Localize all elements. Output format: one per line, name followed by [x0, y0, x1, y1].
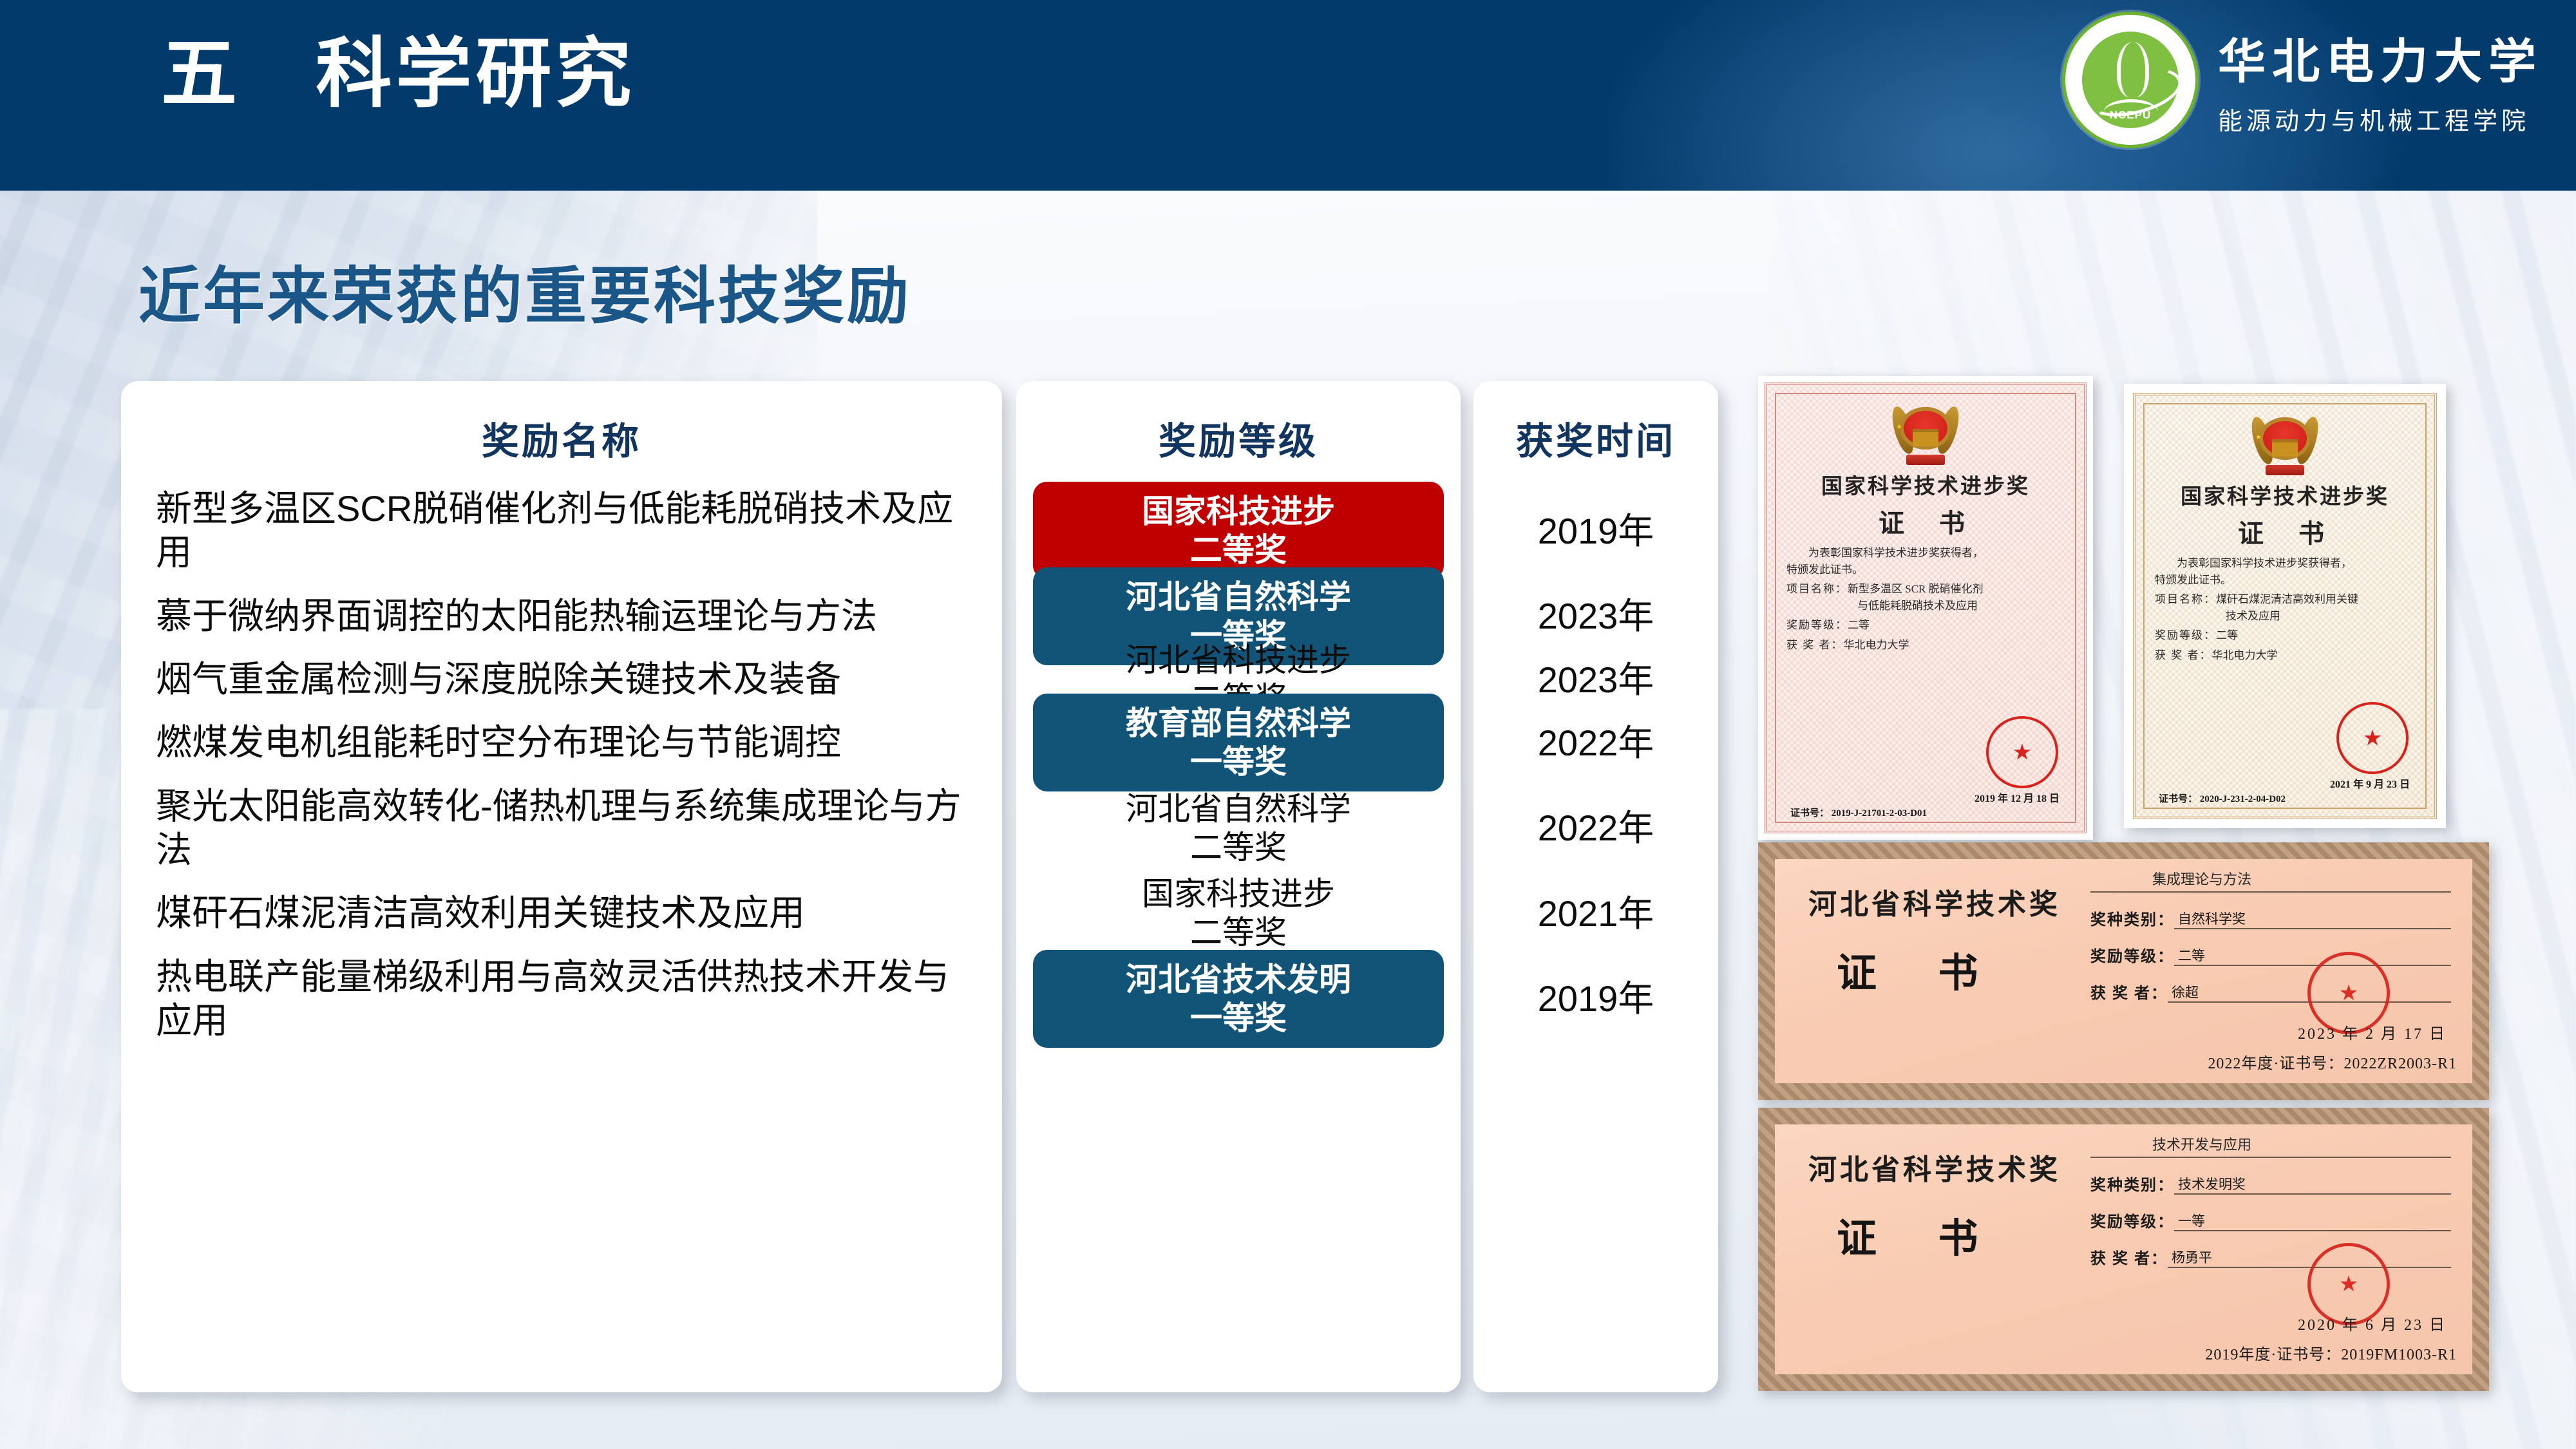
certificate-citation-line1: 为表彰国家科学技术进步奖获得者， [1786, 545, 2065, 562]
certificate-doc-word: 证 书 [1837, 940, 2004, 998]
certificate-category-label: 奖种类别： [2090, 1172, 2174, 1195]
certificate-winner-label: 获 奖 者： [1786, 639, 1844, 651]
certificate-level-label: 奖励等级： [2090, 1209, 2174, 1231]
certificate-citation-line2: 特颁发此证书。 [2155, 572, 2415, 589]
certificate-top-field: 集成理论与方法 [2090, 866, 2451, 893]
award-name-cell: 新型多温区SCR脱硝催化剂与低能耗脱硝技术及应用 [156, 487, 967, 575]
certificate-body: 为表彰国家科学技术进步奖获得者， 特颁发此证书。 项目名称：新型多温区 SCR … [1786, 545, 2065, 653]
certificate-paper: 河北省科学技术奖 证 书 技术开发与应用 奖种类别：技术发明奖 奖励等级：一等 … [1758, 1108, 2489, 1391]
certificate-body: 为表彰国家科学技术进步奖获得者， 特颁发此证书。 项目名称：煤矸石煤泥清洁高效利… [2155, 555, 2415, 663]
certificate-frame: 国家科学技术进步奖 证 书 为表彰国家科学技术进步奖获得者， 特颁发此证书。 项… [1775, 393, 2076, 823]
award-year-list: 2019年2023年2023年2022年2022年2021年2019年 [1473, 465, 1718, 1386]
certificate-winner-value: 华北电力大学 [2212, 649, 2278, 661]
certificate-national-2[interactable]: 国家科学技术进步奖 证 书 为表彰国家科学技术进步奖获得者， 特颁发此证书。 项… [2124, 384, 2446, 828]
certificate-date: 2019 年 12 月 18 日 [1975, 790, 2060, 805]
certificate-level-value: 二等 [1848, 619, 1870, 631]
section-subtitle: 近年来荣获的重要科技奖励 [138, 246, 911, 336]
certificate-project-line1: 新型多温区 SCR 脱硝催化剂 [1848, 583, 1984, 595]
certificate-frame: 国家科学技术进步奖 证 书 为表彰国家科学技术进步奖获得者， 特颁发此证书。 项… [2143, 403, 2427, 809]
logo-acronym: NCEPU [2082, 109, 2179, 122]
certificate-number: 2022年度·证书号：2022ZR2003-R1 [2208, 1050, 2457, 1073]
award-year-panel: 获奖时间 2019年2023年2023年2022年2022年2021年2019年 [1473, 381, 1718, 1392]
award-year-cell: 2023年 [1473, 594, 1718, 638]
certificate-project-label: 项目名称： [2155, 593, 2216, 605]
award-year-cell: 2023年 [1473, 658, 1718, 701]
certificate-project-line2: 技术及应用 [2155, 608, 2415, 625]
award-year-cell: 2019年 [1473, 977, 1718, 1020]
column-header-award-year: 获奖时间 [1473, 381, 1718, 465]
award-year-cell: 2022年 [1473, 806, 1718, 849]
award-year-cell: 2019年 [1473, 509, 1718, 553]
certificate-level-value: 一等 [2174, 1211, 2451, 1231]
certificate-national-1[interactable]: 国家科学技术进步奖 证 书 为表彰国家科学技术进步奖获得者， 特颁发此证书。 项… [1758, 376, 2093, 840]
certificate-project-label: 项目名称： [1786, 583, 1848, 595]
certificate-level-value: 二等 [2216, 629, 2238, 641]
award-year-cell: 2021年 [1473, 892, 1718, 935]
certificate-project-line1: 煤矸石煤泥清洁高效利用关键 [2216, 593, 2358, 605]
award-level-badge: 教育部自然科学 一等奖 [1033, 694, 1444, 791]
logo-green-disc: NCEPU [2082, 32, 2179, 128]
certificate-top-field: 技术开发与应用 [2090, 1131, 2451, 1158]
certificate-doc-word: 证 书 [2238, 513, 2338, 550]
award-level-cell: 国家科技进步 二等奖 [1033, 866, 1444, 961]
award-level-panel: 奖励等级 国家科技进步 二等奖河北省自然科学 一等奖河北省科技进步 二等奖教育部… [1016, 381, 1461, 1392]
certificate-level-label: 奖励等级： [2090, 943, 2174, 966]
certificate-winner-label: 获 奖 者： [2090, 980, 2168, 1003]
certificate-doc-word: 证 书 [1837, 1206, 2004, 1264]
university-name: 华北电力大学 [2218, 23, 2543, 92]
award-level-badge: 国家科技进步 二等奖 [1033, 482, 1444, 580]
certificate-award-title: 国家科学技术进步奖 [2181, 479, 2389, 510]
award-name-cell: 燃煤发电机组能耗时空分布理论与节能调控 [156, 721, 967, 764]
award-name-cell: 烟气重金属检测与深度脱除关键技术及装备 [156, 658, 967, 701]
certificate-doc-word: 证 书 [1879, 502, 1979, 540]
certificate-paper: 河北省科学技术奖 证 书 集成理论与方法 奖种类别：自然科学奖 奖励等级：二等 … [1758, 842, 2489, 1100]
certificate-number: 证书号： 2019-J-21701-2-03-D01 [1790, 806, 1927, 819]
award-name-list: 新型多温区SCR脱硝催化剂与低能耗脱硝技术及应用慕于微纳界面调控的太阳能热输运理… [121, 465, 1002, 1043]
certificate-paper: 国家科学技术进步奖 证 书 为表彰国家科学技术进步奖获得者， 特颁发此证书。 项… [2133, 393, 2437, 819]
certificate-winner-value: 杨勇平 [2168, 1247, 2451, 1268]
slide-canvas: 五 科学研究 NCEPU 华北电力大学 能源动力与机械工程学院 近年来荣获的重要… [0, 0, 2576, 1449]
column-header-award-level: 奖励等级 [1016, 381, 1461, 465]
award-name-panel: 奖励名称 新型多温区SCR脱硝催化剂与低能耗脱硝技术及应用慕于微纳界面调控的太阳… [121, 381, 1002, 1392]
certificate-number: 2019年度·证书号：2019FM1003-R1 [2205, 1341, 2457, 1364]
national-emblem-icon [2254, 416, 2316, 475]
certificate-hebei-2[interactable]: 河北省科学技术奖 证 书 技术开发与应用 奖种类别：技术发明奖 奖励等级：一等 … [1758, 1108, 2489, 1391]
certificate-fields: 技术开发与应用 奖种类别：技术发明奖 奖励等级：一等 获 奖 者：杨勇平 [2090, 1131, 2451, 1268]
certificate-category-value: 技术发明奖 [2174, 1174, 2451, 1195]
certificate-category-label: 奖种类别： [2090, 907, 2174, 929]
certificate-winner-value: 华北电力大学 [1844, 639, 1909, 651]
national-emblem-icon [1895, 406, 1956, 465]
column-header-award-name: 奖励名称 [121, 381, 1002, 465]
certificate-citation-line1: 为表彰国家科学技术进步奖获得者， [2155, 555, 2415, 572]
certificate-paper: 国家科学技术进步奖 证 书 为表彰国家科学技术进步奖获得者， 特颁发此证书。 项… [1765, 383, 2087, 833]
ncepu-seal-icon: NCEPU [2062, 12, 2199, 148]
award-name-cell: 煤矸石煤泥清洁高效利用关键技术及应用 [156, 891, 967, 935]
certificate-level-label: 奖励等级： [2155, 629, 2216, 641]
certificate-project-line2: 与低能耗脱硝技术及应用 [1786, 598, 2065, 614]
award-name-cell: 热电联产能量梯级利用与高效灵活供热技术开发与应用 [156, 955, 967, 1043]
university-text-block: 华北电力大学 能源动力与机械工程学院 [2218, 23, 2543, 137]
page-title: 五 科学研究 [161, 31, 635, 118]
award-level-cell: 河北省自然科学 二等奖 [1033, 781, 1444, 876]
official-seal-icon: ★ [1986, 716, 2058, 788]
certificate-award-title: 河北省科学技术奖 [1808, 1146, 2061, 1188]
certificate-number: 证书号： 2020-J-231-2-04-D02 [2159, 791, 2286, 805]
award-level-badge: 河北省技术发明 一等奖 [1033, 950, 1444, 1048]
award-year-cell: 2022年 [1473, 721, 1718, 764]
certificate-citation-line2: 特颁发此证书。 [1786, 562, 2065, 578]
certificate-winner-label: 获 奖 者： [2155, 649, 2212, 661]
school-name: 能源动力与机械工程学院 [2218, 101, 2543, 137]
certificate-category-value: 自然科学奖 [2174, 909, 2451, 929]
award-level-list: 国家科技进步 二等奖河北省自然科学 一等奖河北省科技进步 二等奖教育部自然科学 … [1016, 465, 1461, 1386]
certificate-date: 2020 年 6 月 23 日 [2298, 1312, 2447, 1334]
certificate-winner-label: 获 奖 者： [2090, 1245, 2168, 1268]
official-seal-icon: ★ [2336, 702, 2409, 774]
certificate-level-label: 奖励等级： [1786, 619, 1848, 631]
award-name-cell: 慕于微纳界面调控的太阳能热输运理论与方法 [156, 594, 967, 638]
certificate-award-title: 河北省科学技术奖 [1808, 881, 2061, 922]
certificate-hebei-1[interactable]: 河北省科学技术奖 证 书 集成理论与方法 奖种类别：自然科学奖 奖励等级：二等 … [1758, 842, 2489, 1100]
certificate-level-value: 二等 [2174, 945, 2451, 966]
award-name-cell: 聚光太阳能高效转化-储热机理与系统集成理论与方法 [156, 784, 967, 873]
certificate-date: 2021 年 9 月 23 日 [2330, 775, 2410, 791]
certificate-award-title: 国家科学技术进步奖 [1821, 469, 2030, 500]
university-logo-block: NCEPU 华北电力大学 能源动力与机械工程学院 [2062, 12, 2543, 148]
certificate-fields: 集成理论与方法 奖种类别：自然科学奖 奖励等级：二等 获 奖 者：徐超 [2090, 866, 2451, 1003]
certificate-date: 2023 年 2 月 17 日 [2298, 1021, 2447, 1043]
slide-header-bar: 五 科学研究 NCEPU 华北电力大学 能源动力与机械工程学院 [0, 0, 2576, 191]
certificate-gallery: 国家科学技术进步奖 证 书 为表彰国家科学技术进步奖获得者， 特颁发此证书。 项… [1758, 376, 2576, 1406]
